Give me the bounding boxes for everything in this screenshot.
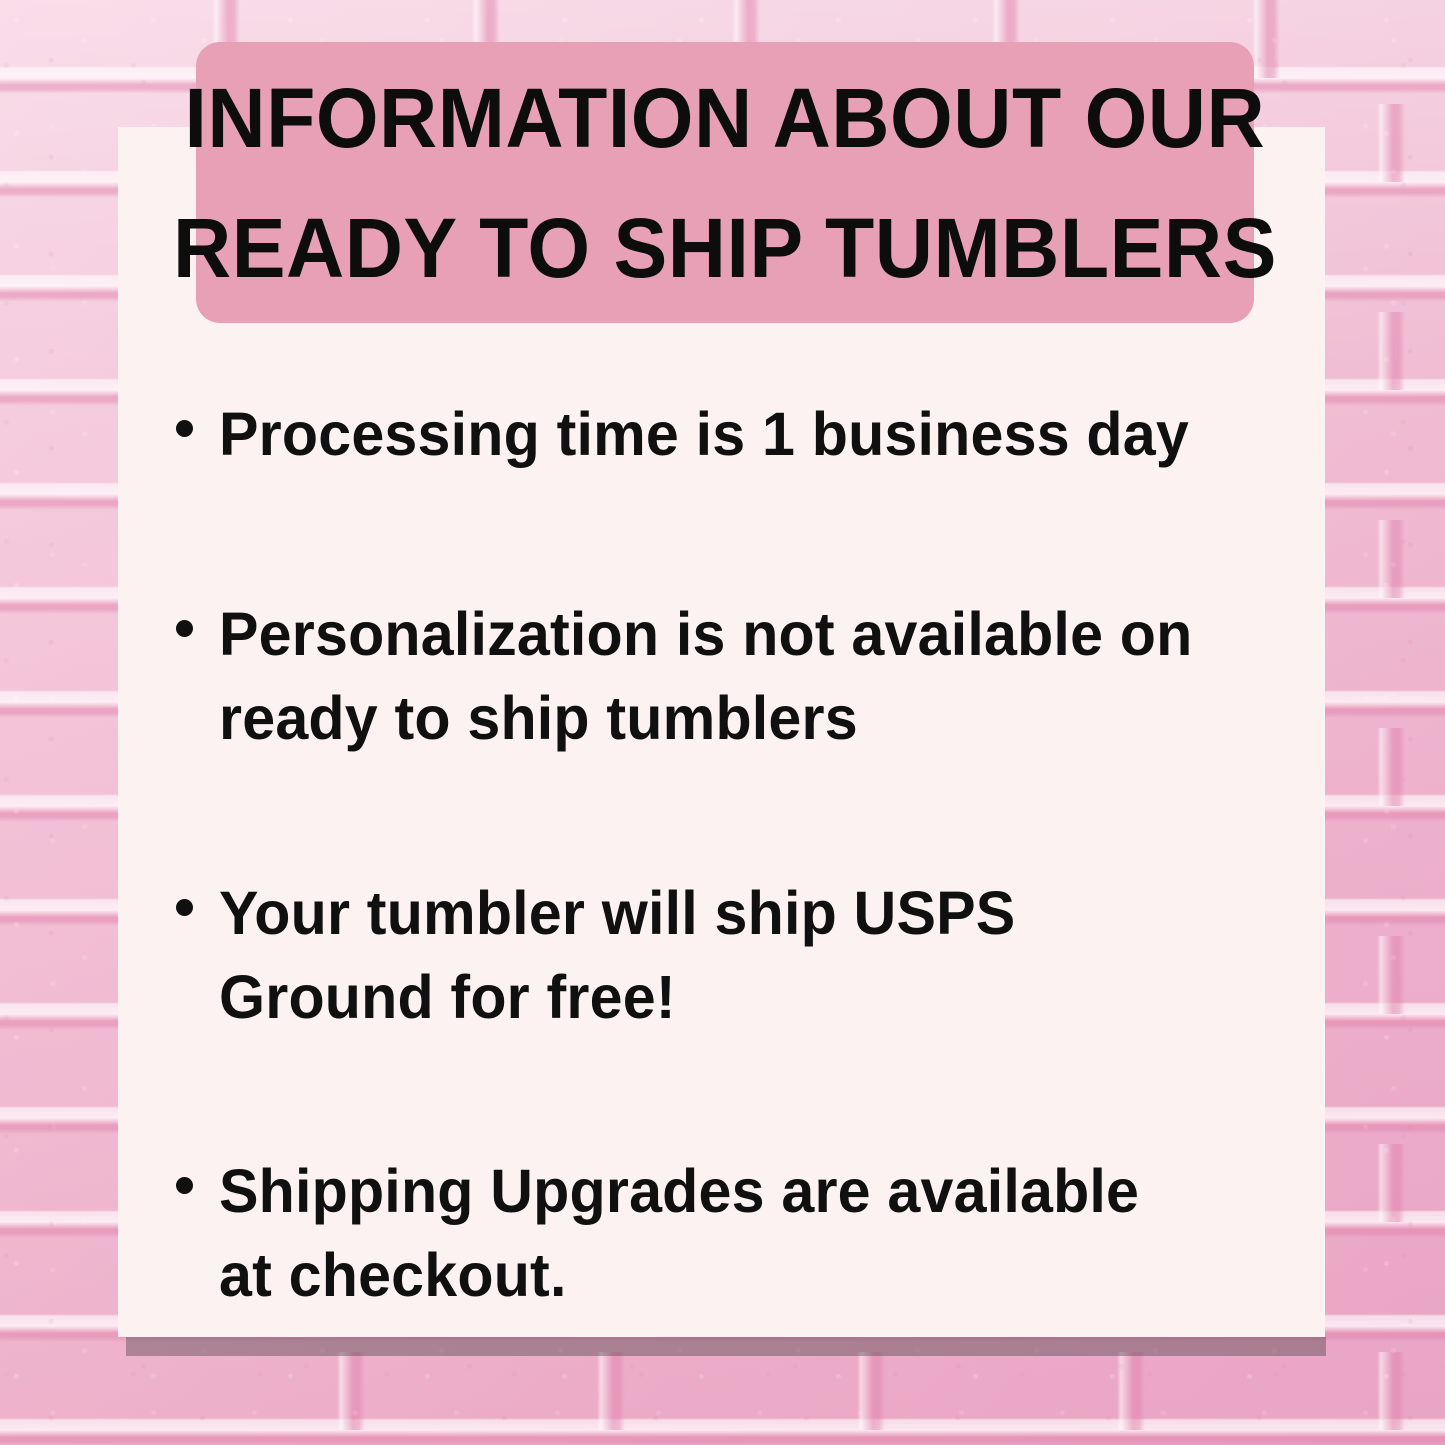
bullet-dot-icon — [176, 420, 193, 437]
card-drop-shadow — [126, 1337, 1326, 1356]
poster-canvas: INFORMATION ABOUT OUR READY TO SHIP TUMB… — [0, 0, 1445, 1445]
list-item: Your tumbler will ship USPS Ground for f… — [176, 871, 1236, 1039]
list-item-text: Shipping Upgrades are available at check… — [219, 1149, 1205, 1317]
title-line-1: INFORMATION ABOUT OUR — [185, 76, 1266, 160]
list-item: Processing time is 1 business day — [176, 392, 1236, 476]
title-line-2: READY TO SHIP TUMBLERS — [173, 206, 1277, 290]
bullet-dot-icon — [176, 620, 193, 637]
list-item: Personalization is not available on read… — [176, 592, 1236, 760]
bullet-dot-icon — [176, 1177, 193, 1194]
list-item-text: Your tumbler will ship USPS Ground for f… — [219, 871, 1205, 1039]
list-item: Shipping Upgrades are available at check… — [176, 1149, 1236, 1317]
bullet-dot-icon — [176, 899, 193, 916]
list-item-text: Processing time is 1 business day — [219, 392, 1189, 476]
list-item-text: Personalization is not available on read… — [219, 592, 1205, 760]
info-bullet-list: Processing time is 1 business day Person… — [176, 392, 1236, 1317]
title-banner: INFORMATION ABOUT OUR READY TO SHIP TUMB… — [196, 42, 1254, 323]
